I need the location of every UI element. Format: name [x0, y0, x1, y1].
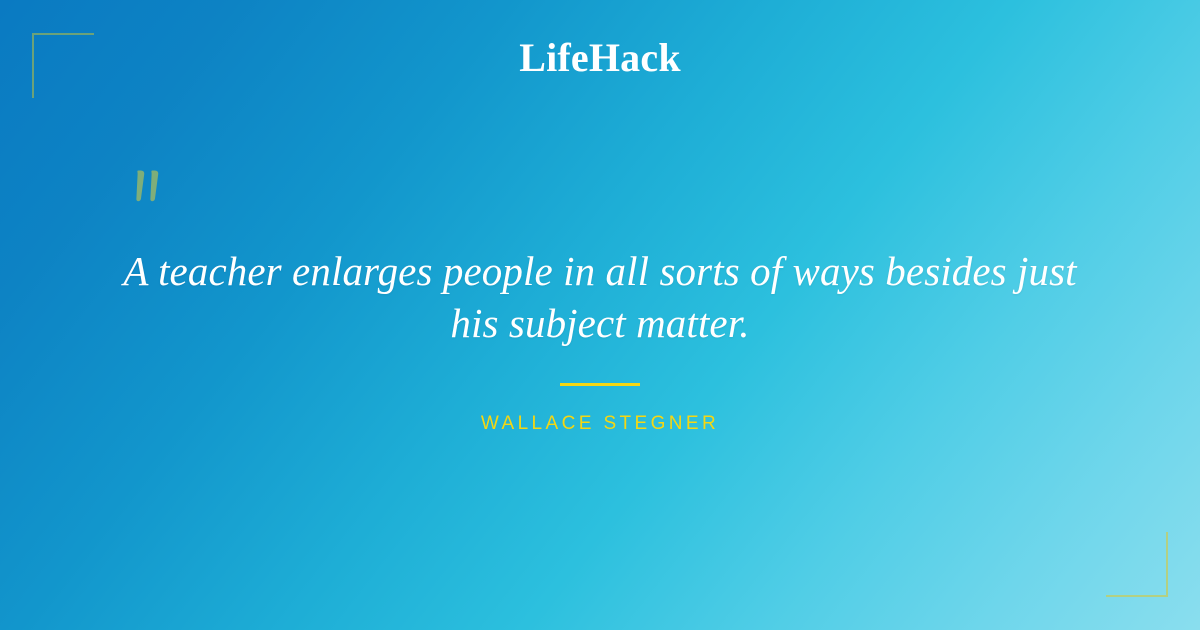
brand-header: LifeHack: [0, 38, 1200, 78]
attribution-author-name: Wallace Stegner: [481, 414, 719, 433]
attribution-divider: [560, 383, 640, 386]
quotation-mark-icon: [132, 168, 176, 212]
quote-text: A teacher enlarges people in all sorts o…: [100, 246, 1100, 349]
attribution: Wallace Stegner: [0, 414, 1200, 434]
lifehack-logo: LifeHack: [519, 38, 681, 78]
corner-bracket-bottom-right-icon: [1106, 532, 1168, 597]
quote-card: LifeHack A teacher enlarges people in al…: [0, 0, 1200, 630]
